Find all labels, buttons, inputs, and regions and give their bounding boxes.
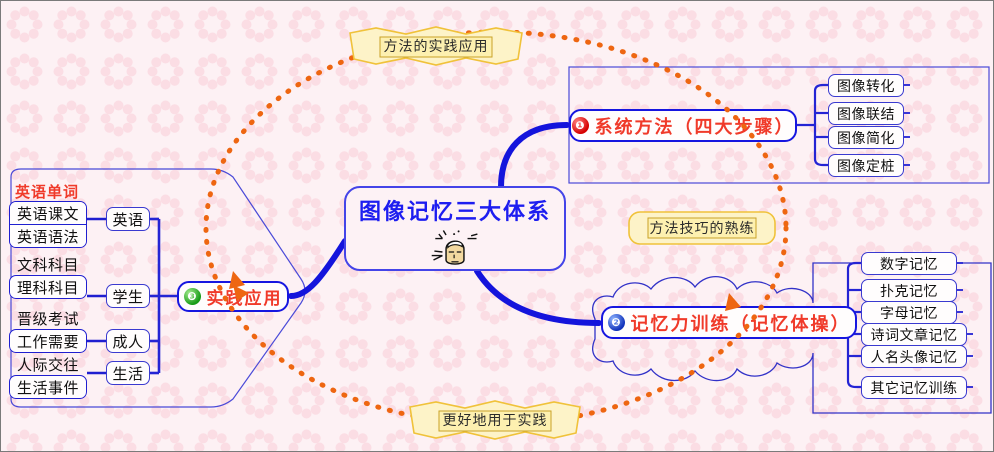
branch-1-child-1[interactable]: 图像联结 bbox=[828, 102, 904, 125]
branch-2-child-3[interactable]: 诗词文章记忆 bbox=[861, 323, 967, 346]
branch-2-child-5[interactable]: 其它记忆训练 bbox=[861, 376, 967, 399]
branch-2-child-2[interactable]: 字母记忆 bbox=[861, 301, 957, 324]
item-life-events[interactable]: 生活事件 bbox=[9, 375, 87, 399]
branch-3-group-0[interactable]: 英语 bbox=[106, 207, 150, 231]
branch-3-group-1[interactable]: 学生 bbox=[106, 284, 150, 308]
banner-bottom-text: 更好地用于实践 bbox=[406, 399, 584, 441]
item-english-text[interactable]: 英语课文 bbox=[10, 202, 86, 225]
central-title: 图像记忆三大体系 bbox=[359, 194, 551, 226]
branch-3-group-0-items[interactable]: 英语课文 英语语法 bbox=[9, 201, 87, 248]
trunk-branch-2 bbox=[477, 271, 599, 323]
branch-1-child-0[interactable]: 图像转化 bbox=[828, 74, 904, 97]
badge-1: ❶ bbox=[572, 117, 589, 134]
branch-2-child-0[interactable]: 数字记忆 bbox=[861, 252, 957, 275]
branch-3-group-2-items[interactable]: 晋级考试 工作需要 bbox=[9, 307, 87, 353]
branch-node-3[interactable]: ❸ 实践应用 bbox=[177, 281, 289, 312]
trunk-branch-3 bbox=[291, 241, 345, 296]
trunk-branch-1 bbox=[501, 125, 567, 187]
branch-3-group-3-items[interactable]: 人际交往 生活事件 bbox=[9, 353, 87, 399]
branch-node-2[interactable]: ❷ 记忆力训练（记忆体操） bbox=[601, 306, 857, 339]
branch-3-group-1-items[interactable]: 文科科目 理科科目 bbox=[9, 253, 87, 299]
badge-3: ❸ bbox=[184, 288, 201, 305]
branch-3-highlight-item: 英语单词 bbox=[15, 181, 79, 202]
thinking-head-icon bbox=[423, 226, 487, 269]
item-english-grammar[interactable]: 英语语法 bbox=[10, 225, 86, 247]
branch-1-child-3[interactable]: 图像定桩 bbox=[828, 154, 904, 177]
item-work-needs[interactable]: 工作需要 bbox=[9, 329, 87, 353]
mindmap-canvas: 图像记忆三大体系 ❶ 系统方法（四大步骤） 图像转化 图像联结 图像简化 图像定… bbox=[0, 0, 994, 452]
branch-2-label: 记忆力训练（记忆体操） bbox=[631, 310, 851, 336]
branch-1-child-2[interactable]: 图像简化 bbox=[828, 126, 904, 149]
item-liberal-arts[interactable]: 文科科目 bbox=[9, 253, 87, 275]
banner-top-text: 方法的实践应用 bbox=[346, 25, 526, 67]
banner-middle-text: 方法技巧的熟练 bbox=[626, 209, 778, 247]
branch-3-group-3[interactable]: 生活 bbox=[106, 361, 150, 385]
branch-2-child-4[interactable]: 人名头像记忆 bbox=[861, 345, 967, 368]
badge-2: ❷ bbox=[608, 314, 625, 331]
branch-2-child-1[interactable]: 扑克记忆 bbox=[861, 279, 957, 302]
branch-1-label: 系统方法（四大步骤） bbox=[595, 113, 795, 139]
item-promotion-exam[interactable]: 晋级考试 bbox=[9, 307, 87, 329]
branch-node-1[interactable]: ❶ 系统方法（四大步骤） bbox=[569, 109, 797, 142]
item-social-interaction[interactable]: 人际交往 bbox=[9, 353, 87, 375]
banner-bottom[interactable]: 更好地用于实践 bbox=[406, 399, 584, 441]
banner-top[interactable]: 方法的实践应用 bbox=[346, 25, 526, 67]
central-node[interactable]: 图像记忆三大体系 bbox=[344, 186, 566, 271]
item-science-subjects[interactable]: 理科科目 bbox=[9, 275, 87, 299]
branch-3-group-2[interactable]: 成人 bbox=[106, 329, 150, 353]
branch-3-label: 实践应用 bbox=[207, 284, 283, 309]
banner-middle[interactable]: 方法技巧的熟练 bbox=[626, 209, 778, 247]
